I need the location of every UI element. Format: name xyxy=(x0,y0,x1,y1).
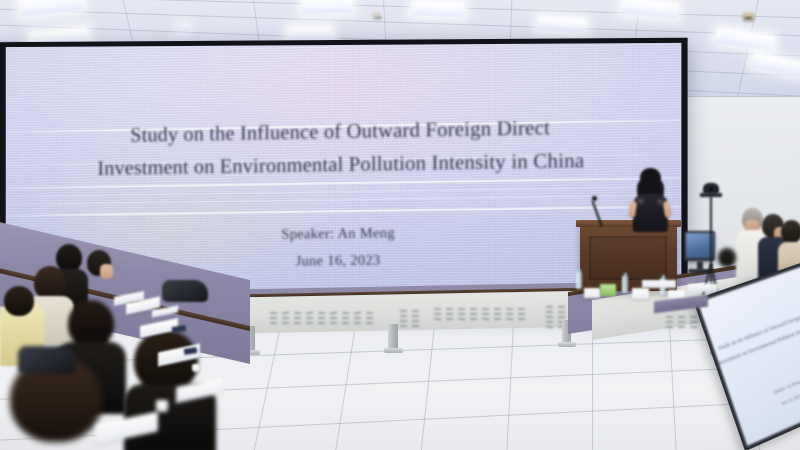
speaker-hair xyxy=(640,168,661,195)
conference-room-photo: Study on the Influence of Outward Foreig… xyxy=(0,0,800,450)
audience-head xyxy=(68,300,114,348)
handbag xyxy=(18,346,76,374)
ceiling-light-panel xyxy=(288,27,332,41)
audience-head xyxy=(4,286,34,316)
smoke-detector-icon xyxy=(742,12,755,21)
conference-table-center xyxy=(228,286,600,354)
name-card xyxy=(632,288,649,299)
secondary-slide-speaker-line: Speaker: An Meng xyxy=(734,364,800,411)
ceiling-light-panel xyxy=(178,24,190,31)
camera-lens-icon xyxy=(707,185,715,193)
paper-cup xyxy=(192,364,200,372)
water-bottle xyxy=(622,276,628,293)
ceiling-light-panel xyxy=(19,0,82,16)
ceiling-light-panel xyxy=(412,1,464,17)
podium-front-panel xyxy=(589,236,667,280)
audience-head xyxy=(781,220,800,243)
ceiling-light-panel xyxy=(538,16,587,32)
microphone-head-icon xyxy=(592,196,597,201)
ceiling-light-panel xyxy=(302,0,352,13)
speaker-dress-lace xyxy=(634,195,667,210)
ceiling-light-panel xyxy=(715,28,775,52)
monitor-screen xyxy=(686,233,713,258)
smoke-detector-icon xyxy=(372,12,381,19)
speaker-arm xyxy=(663,201,673,219)
water-bottle xyxy=(576,272,582,289)
paper-cup xyxy=(156,400,168,412)
wall-seam xyxy=(672,96,800,97)
name-card xyxy=(584,288,600,298)
audience-head xyxy=(718,248,736,267)
document-paper xyxy=(688,284,718,292)
tissue-box xyxy=(600,284,616,296)
document-paper xyxy=(642,280,676,288)
ceiling-light-panel xyxy=(621,0,678,19)
speaker-person xyxy=(629,168,671,230)
handbag xyxy=(162,280,208,302)
camera-tripod xyxy=(710,196,712,292)
